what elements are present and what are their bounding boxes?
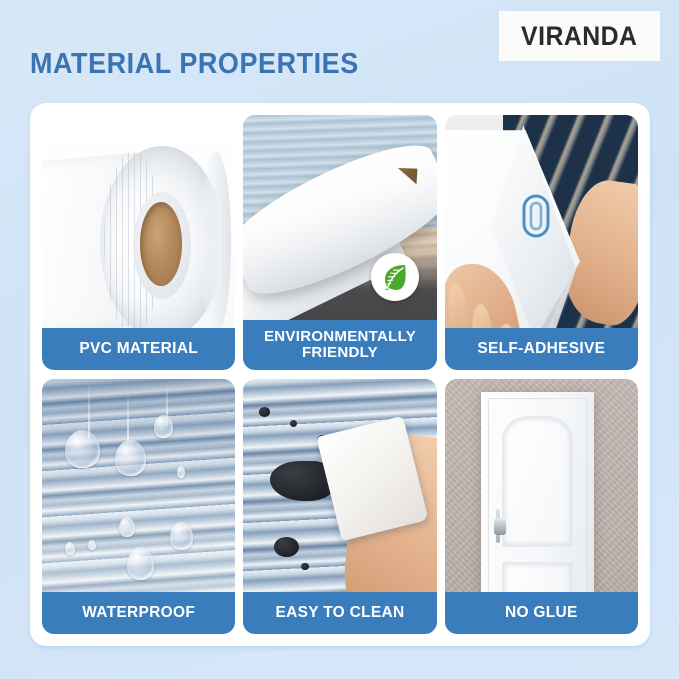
feature-label-no-glue: NO GLUE — [445, 592, 638, 634]
paperclip-icon — [520, 192, 552, 240]
feature-tile-waterproof[interactable]: WATERPROOF — [42, 379, 235, 634]
feature-tile-no-glue[interactable]: NO GLUE — [445, 379, 638, 634]
brand-logo: VIRANDA — [499, 11, 660, 61]
feature-label-pvc-material: PVC MATERIAL — [42, 328, 235, 370]
feature-card: PVC MATERIAL — [30, 103, 650, 646]
product-feature-infographic: VIRANDA MATERIAL PROPERTIES PVC MATERIAL — [0, 0, 679, 679]
feature-grid: PVC MATERIAL — [42, 115, 638, 634]
brand-logo-text: VIRANDA — [521, 21, 637, 52]
feature-tile-pvc-material[interactable]: PVC MATERIAL — [42, 115, 235, 370]
feature-label-easy-to-clean: EASY TO CLEAN — [243, 592, 436, 634]
feature-label-environmentally-friendly: ENVIRONMENTALLY FRIENDLY — [243, 320, 436, 370]
leaf-icon — [371, 253, 419, 301]
feature-label-self-adhesive: SELF-ADHESIVE — [445, 328, 638, 370]
feature-tile-environmentally-friendly[interactable]: ENVIRONMENTALLY FRIENDLY — [243, 115, 436, 370]
feature-label-waterproof: WATERPROOF — [42, 592, 235, 634]
feature-tile-self-adhesive[interactable]: SELF-ADHESIVE — [445, 115, 638, 370]
feature-tile-easy-to-clean[interactable]: EASY TO CLEAN — [243, 379, 436, 634]
page-title: MATERIAL PROPERTIES — [30, 48, 359, 81]
